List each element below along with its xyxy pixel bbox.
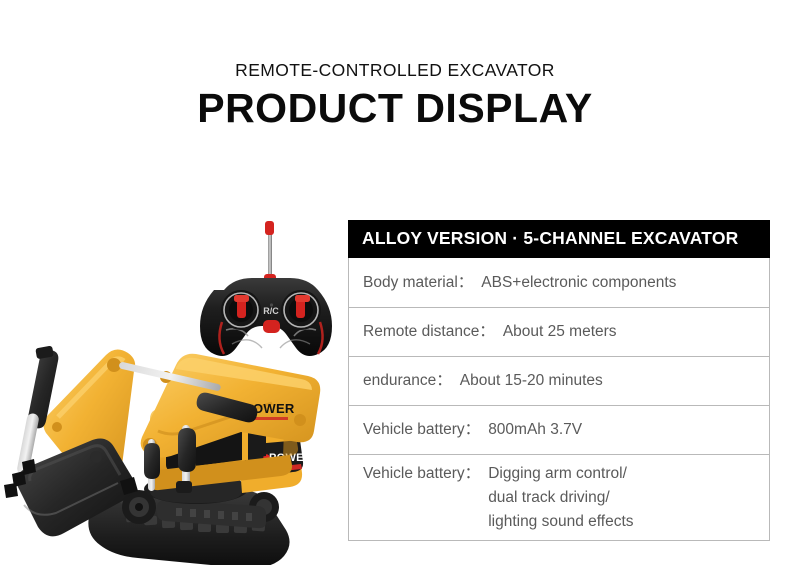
spec-row-remote-distance: Remote distance： About 25 meters [349, 307, 769, 356]
spec-table-body: Body material： ABS+electronic components… [348, 258, 770, 541]
page-header: REMOTE-CONTROLLED EXCAVATOR PRODUCT DISP… [0, 58, 790, 132]
page-title: PRODUCT DISPLAY [0, 84, 790, 132]
specification-table: ALLOY VERSION · 5-CHANNEL EXCAVATOR Body… [348, 220, 770, 541]
spec-label: Remote distance： [363, 320, 495, 344]
header-subtitle: REMOTE-CONTROLLED EXCAVATOR [0, 58, 790, 82]
spec-row-body-material: Body material： ABS+electronic components [349, 258, 769, 307]
spec-label: Body material： [363, 271, 473, 295]
spec-label: Vehicle battery： [363, 462, 480, 486]
spec-label: endurance： [363, 369, 452, 393]
remote-right-joystick [281, 290, 321, 330]
antenna-tip [265, 221, 274, 235]
spec-row-endurance: endurance： About 15-20 minutes [349, 356, 769, 405]
remote-led-indicator [270, 303, 273, 306]
remote-antenna [264, 221, 276, 286]
spec-row-vehicle-battery: Vehicle battery： 800mAh 3.7V [349, 405, 769, 454]
spec-table-header: ALLOY VERSION · 5-CHANNEL EXCAVATOR [348, 220, 770, 258]
remote-left-joystick [221, 290, 261, 330]
spec-value: About 25 meters [495, 320, 617, 344]
remote-rc-label: R/C [263, 306, 279, 316]
spec-value: About 15-20 minutes [452, 369, 603, 393]
spec-value: 800mAh 3.7V [480, 418, 582, 442]
spec-value: Digging arm control/ dual track driving/… [480, 462, 633, 534]
spec-row-functions: Vehicle battery： Digging arm control/ du… [349, 454, 769, 540]
spec-label: Vehicle battery： [363, 418, 480, 442]
product-image-remote-controller: R/C [196, 212, 346, 372]
remote-power-button [263, 320, 280, 333]
spec-value: ABS+electronic components [473, 271, 676, 295]
